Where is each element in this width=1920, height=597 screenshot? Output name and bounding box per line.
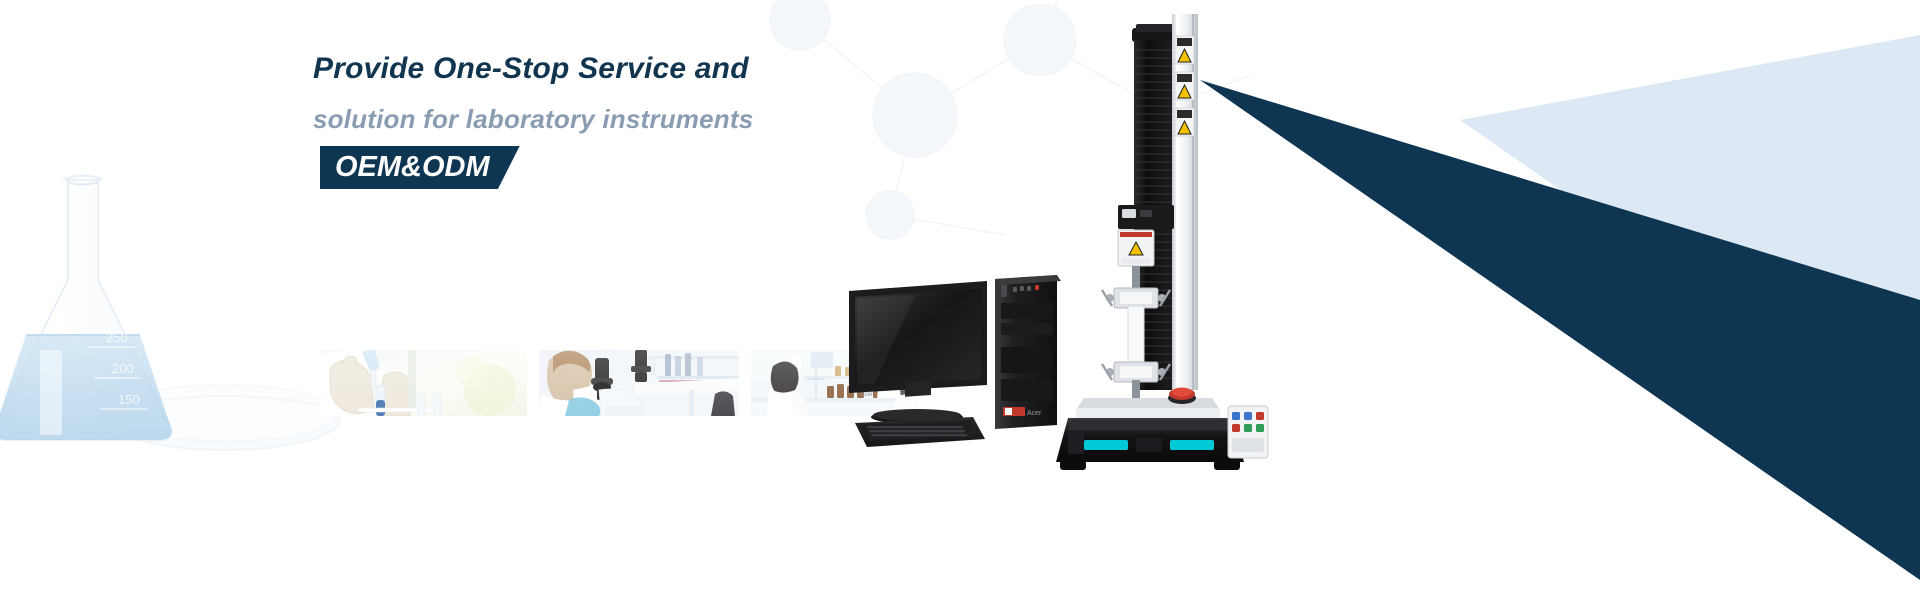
headline-line-2: solution for laboratory instruments bbox=[313, 106, 1013, 132]
computer-tower: Acer bbox=[995, 275, 1061, 429]
warning-label bbox=[1175, 36, 1194, 136]
machine-base bbox=[1056, 388, 1268, 471]
photo-pipetting bbox=[322, 350, 527, 416]
headline-line-1: Provide One-Stop Service and bbox=[313, 54, 1013, 84]
light-triangle-decor bbox=[1460, 0, 1920, 440]
photo-lab-bench bbox=[751, 350, 918, 416]
headline-block: Provide One-Stop Service and solution fo… bbox=[313, 54, 1013, 189]
lower-grip bbox=[1102, 362, 1170, 382]
graduation-150: 150 bbox=[118, 392, 140, 407]
crosshead bbox=[1118, 205, 1174, 266]
hero-banner: 250 200 150 mL Provide One-Stop Service … bbox=[0, 0, 1920, 597]
photo-microscope bbox=[539, 350, 739, 416]
keyboard bbox=[855, 417, 985, 447]
graduation-200: 200 bbox=[112, 361, 134, 376]
oem-odm-badge: OEM&ODM bbox=[320, 146, 520, 189]
svg-text:Acer: Acer bbox=[1027, 410, 1042, 417]
flask-unit-label: mL bbox=[52, 308, 67, 320]
photo-strip bbox=[322, 350, 918, 416]
dark-triangle-decor bbox=[1200, 0, 1920, 580]
graduation-250: 250 bbox=[106, 330, 128, 345]
oem-odm-badge-wrap: OEM&ODM bbox=[320, 146, 520, 189]
upper-grip bbox=[1102, 288, 1170, 308]
petri-dish bbox=[110, 385, 340, 450]
erlenmeyer-flask: 250 200 150 mL bbox=[0, 176, 172, 441]
